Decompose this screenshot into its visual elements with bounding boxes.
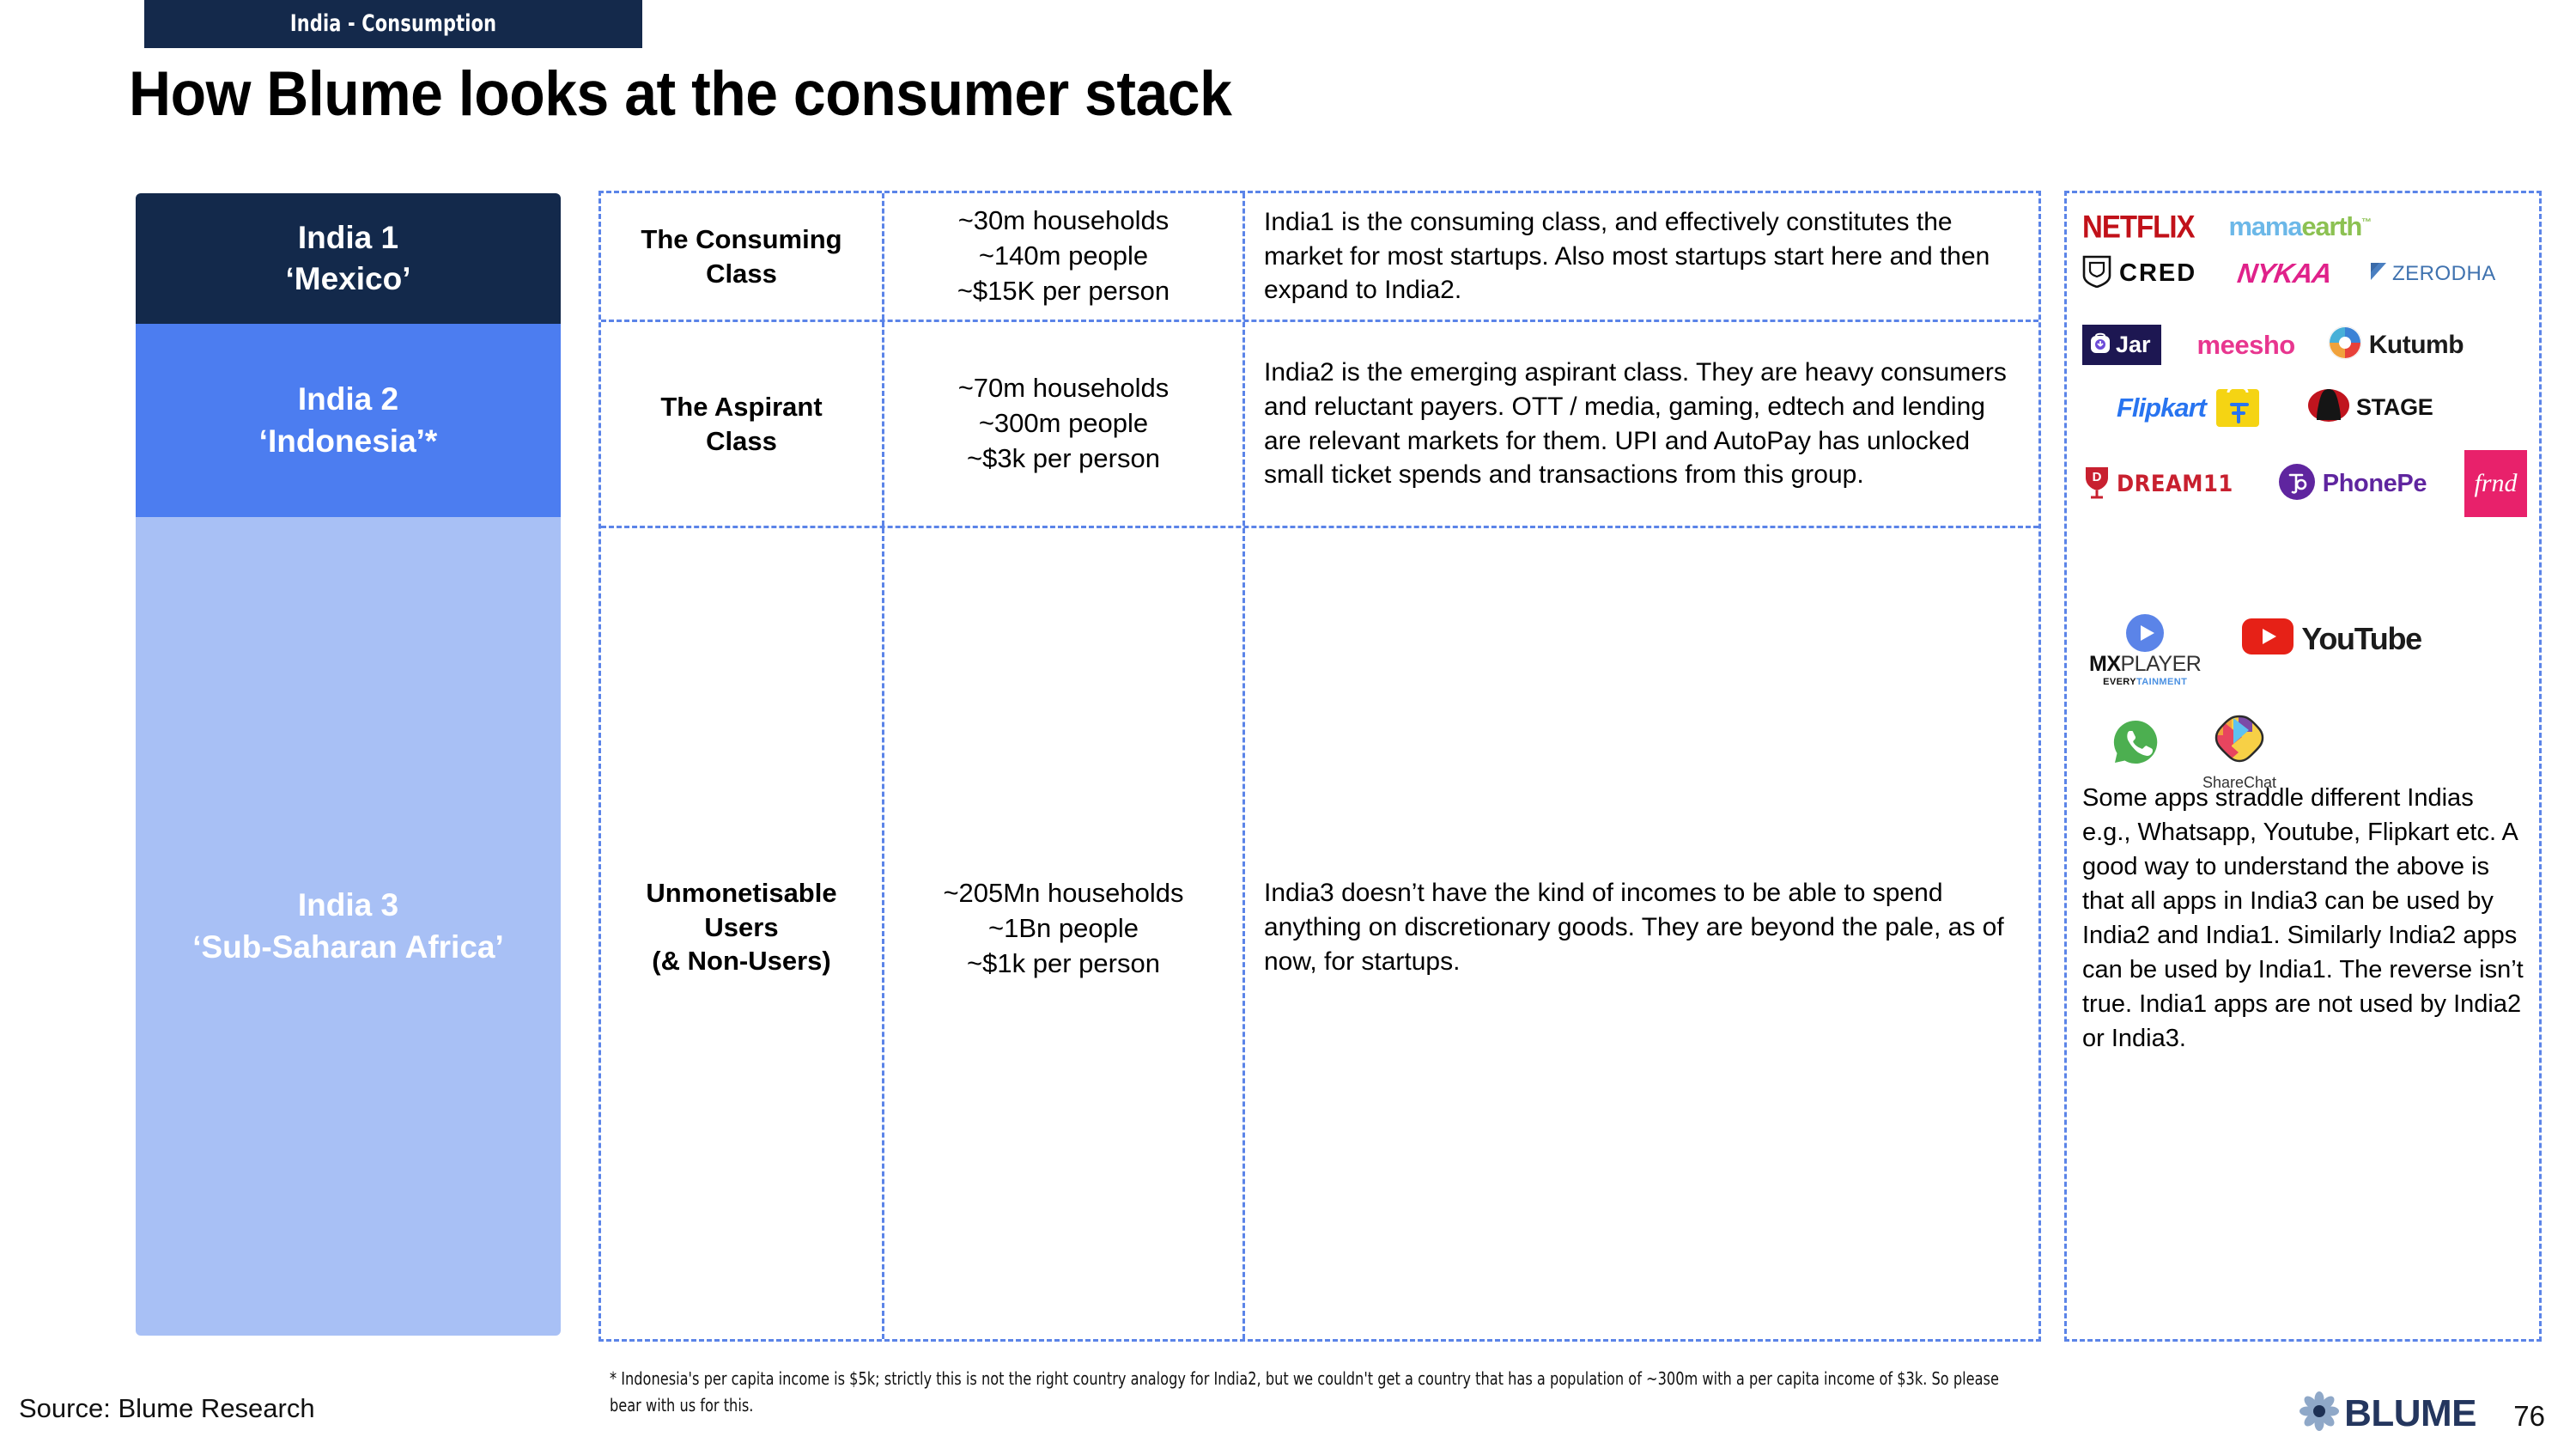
row-stat-people: ~140m people [957,239,1170,274]
dream11-trophy-icon: D [2082,465,2111,503]
row-stat-per-person: ~$3k per person [958,441,1170,477]
mxplayer-wordmark-a: MX [2089,652,2121,676]
logo-flipkart: Flipkart [2117,381,2263,435]
flipkart-wordmark: Flipkart [2117,393,2206,423]
logo-frnd: frnd [2464,450,2527,517]
logo-youtube: YouTube [2242,618,2421,659]
svg-text:D: D [2093,470,2102,484]
netflix-wordmark: NETFLIX [2082,209,2195,246]
mxplayer-tagline-b: TAINMENT [2136,677,2187,687]
logo-jar: Jar [2082,325,2161,365]
source-label: Source: Blume Research [19,1393,315,1424]
kicker-label: India - Consumption [179,0,608,48]
stack-segment-india2[interactable]: India 2 ‘Indonesia’* [136,324,561,517]
logo-nykaa: NYKAA [2238,258,2331,289]
table-row: Unmonetisable Users (& Non-Users) ~205Mn… [601,528,2038,1339]
mamaearth-wordmark-b: earth [2301,211,2361,241]
row-stat-people: ~1Bn people [943,911,1183,947]
stage-wordmark: STAGE [2356,394,2433,421]
blume-logo: BLUME [2300,1391,2476,1435]
logo-netflix: NETFLIX [2082,210,2195,243]
blume-wordmark: BLUME [2344,1392,2476,1435]
consumer-stack-table: The Consuming Class ~30m households ~140… [598,191,2041,1342]
kutumb-icon [2328,326,2362,364]
row-class-label: The Aspirant Class [601,322,884,526]
page-title: How Blume looks at the consumer stack [129,58,1231,130]
row-class-label-text: Unmonetisable Users (& Non-Users) [646,876,836,978]
mxplayer-tagline-a: EVERY [2103,677,2136,687]
row-description: India3 doesn’t have the kind of incomes … [1245,528,2038,1339]
logo-dream11: D DREAM11 [2082,465,2233,503]
row-stats: ~205Mn households ~1Bn people ~$1k per p… [884,528,1245,1339]
kutumb-wordmark: Kutumb [2369,331,2464,360]
row-stat-per-person: ~$15K per person [957,274,1170,309]
slide: India - Consumption How Blume looks at t… [0,0,2576,1449]
row-description: India2 is the emerging aspirant class. T… [1245,322,2038,526]
row-class-label: Unmonetisable Users (& Non-Users) [601,528,884,1339]
row-stat-households: ~70m households [958,371,1170,406]
jar-icon [2089,331,2111,359]
stage-icon [2307,387,2350,428]
panel-note: Some apps straddle different Indias e.g.… [2082,781,2527,1056]
row-description-text: India3 doesn’t have the kind of incomes … [1264,876,2023,979]
dream11-wordmark: DREAM11 [2117,471,2233,497]
row-stat-people: ~300m people [958,406,1170,441]
trademark-icon: ™ [2361,216,2371,228]
row-stat-households: ~30m households [957,204,1170,239]
phonepe-icon [2278,463,2316,505]
row-stat-households: ~205Mn households [943,876,1183,911]
frnd-wordmark: frnd [2475,469,2518,498]
blume-flower-icon [2300,1391,2339,1435]
row-description: India1 is the consuming class, and effec… [1245,193,2038,320]
stack-segment-india3[interactable]: India 3 ‘Sub-Saharan Africa’ [136,517,561,1336]
mamaearth-wordmark-a: mama [2229,211,2302,241]
india-stack: India 1 ‘Mexico’ India 2 ‘Indonesia’* In… [136,193,561,1336]
stack-segment-india2-name: India 2 [259,379,438,420]
page-number: 76 [2513,1400,2545,1433]
sharechat-icon [2213,715,2266,772]
logo-cred: CRED [2082,255,2196,292]
cred-wordmark: CRED [2119,259,2196,288]
mxplayer-wordmark-b: PLAYER [2121,652,2202,676]
youtube-wordmark: YouTube [2301,621,2421,657]
logo-meesho: meesho [2197,330,2295,361]
logo-whatsapp [2105,713,2166,779]
logo-mxplayer: MXPLAYER EVERYTAINMENT [2089,613,2201,687]
table-row: The Aspirant Class ~70m households ~300m… [601,322,2038,528]
stack-segment-india3-analogy: ‘Sub-Saharan Africa’ [192,927,504,968]
row-stats: ~30m households ~140m people ~$15K per p… [884,193,1245,320]
stack-segment-india1-analogy: ‘Mexico’ [286,259,411,300]
logo-zerodha: ZERODHA [2369,261,2496,286]
zerodha-wordmark: ZERODHA [2392,262,2496,286]
row-stat-per-person: ~$1k per person [943,947,1183,982]
zerodha-mark-icon [2369,261,2388,286]
logo-mamaearth: mamaearth™ [2229,211,2371,242]
table-row: The Consuming Class ~30m households ~140… [601,193,2038,322]
stack-segment-india1-name: India 1 [286,217,411,259]
row-class-label: The Consuming Class [601,193,884,320]
youtube-play-icon [2242,618,2293,659]
jar-wordmark: Jar [2116,332,2151,358]
stack-segment-india1[interactable]: India 1 ‘Mexico’ [136,193,561,324]
section-kicker: India - Consumption [144,0,642,48]
row-stats: ~70m households ~300m people ~$3k per pe… [884,322,1245,526]
phonepe-wordmark: PhonePe [2323,470,2427,498]
footnote: * Indonesia's per capita income is $5k; … [610,1366,2008,1419]
nykaa-wordmark: NYKAA [2236,258,2334,289]
flipkart-bag-icon [2213,381,2263,435]
logo-kutumb: Kutumb [2328,326,2464,364]
logo-phonepe: PhonePe [2278,463,2427,505]
whatsapp-icon [2105,713,2166,779]
app-logo-panel: NETFLIX mamaearth™ CRED NYKAA ZERODHA [2064,191,2542,1342]
cred-shield-icon [2082,255,2111,292]
meesho-wordmark: meesho [2197,330,2295,361]
stack-segment-india2-analogy: ‘Indonesia’* [259,421,438,462]
stack-segment-india3-name: India 3 [192,885,504,926]
mxplayer-play-icon [2125,613,2165,657]
logo-stage: STAGE [2307,387,2433,428]
